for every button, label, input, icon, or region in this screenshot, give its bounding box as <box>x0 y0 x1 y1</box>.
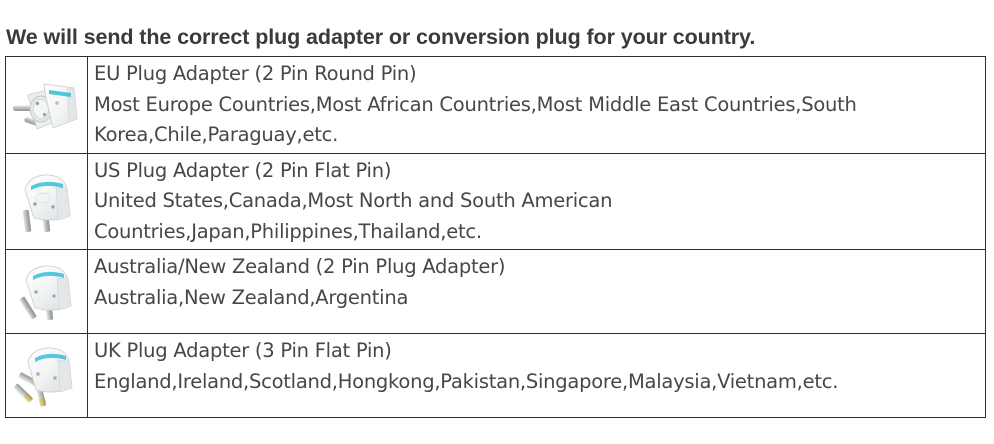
us-plug-adapter-image <box>6 153 88 250</box>
row-title: US Plug Adapter (2 Pin Flat Pin) <box>94 156 985 187</box>
uk-plug-text-cell: UK Plug Adapter (3 Pin Flat Pin) England… <box>88 334 986 418</box>
eu-plug-icon <box>11 67 83 143</box>
au-plug-adapter-image <box>6 250 88 334</box>
table-row: Australia/New Zealand (2 Pin Plug Adapte… <box>6 250 986 334</box>
au-plug-text-cell: Australia/New Zealand (2 Pin Plug Adapte… <box>88 250 986 334</box>
plug-adapter-info-page: We will send the correct plug adapter or… <box>0 0 994 444</box>
row-description: Most Europe Countries,Most African Count… <box>94 90 985 151</box>
row-description: Australia,New Zealand,Argentina <box>94 283 985 314</box>
row-description: United States,Canada,Most North and Sout… <box>94 186 985 247</box>
au-plug-icon <box>12 256 82 328</box>
eu-plug-adapter-image <box>6 57 88 154</box>
plug-adapter-table: EU Plug Adapter (2 Pin Round Pin) Most E… <box>5 56 986 418</box>
row-title: UK Plug Adapter (3 Pin Flat Pin) <box>94 336 985 367</box>
us-plug-icon <box>12 164 82 238</box>
table-row: US Plug Adapter (2 Pin Flat Pin) United … <box>6 153 986 250</box>
row-title: Australia/New Zealand (2 Pin Plug Adapte… <box>94 252 985 283</box>
table-row: UK Plug Adapter (3 Pin Flat Pin) England… <box>6 334 986 418</box>
uk-plug-adapter-image <box>6 334 88 418</box>
us-plug-text-cell: US Plug Adapter (2 Pin Flat Pin) United … <box>88 153 986 250</box>
page-title: We will send the correct plug adapter or… <box>6 24 755 50</box>
uk-plug-icon <box>12 340 82 412</box>
row-title: EU Plug Adapter (2 Pin Round Pin) <box>94 59 985 90</box>
table-row: EU Plug Adapter (2 Pin Round Pin) Most E… <box>6 57 986 154</box>
eu-plug-text-cell: EU Plug Adapter (2 Pin Round Pin) Most E… <box>88 57 986 154</box>
row-description: England,Ireland,Scotland,Hongkong,Pakist… <box>94 367 985 398</box>
